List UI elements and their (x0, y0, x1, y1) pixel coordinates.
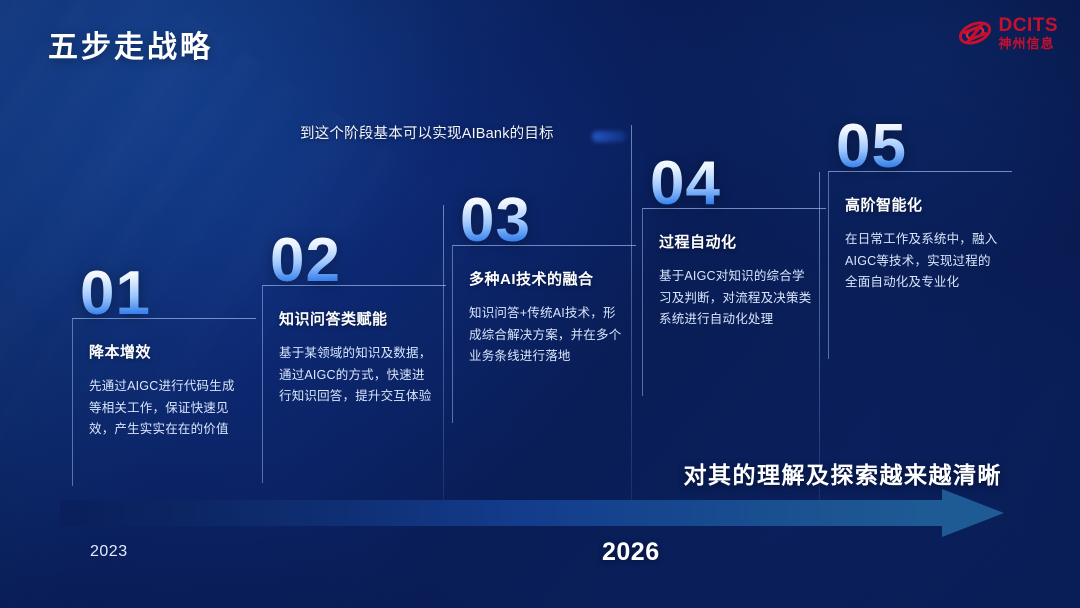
annotation-blur-artifact (592, 131, 626, 142)
step-heading-05: 高阶智能化 (845, 194, 998, 215)
step-card-03[interactable]: 03 多种AI技术的融合 知识问答+传统AI技术，形成综合解决方案，并在多个业务… (452, 192, 636, 423)
step-card-01[interactable]: 01 降本增效 先通过AIGC进行代码生成等相关工作，保证快速见效，产生实实在在… (72, 265, 256, 486)
timeline-year-end: 2026 (602, 538, 660, 567)
step-number-01: 01 (80, 265, 256, 322)
step-heading-03: 多种AI技术的融合 (469, 268, 622, 289)
step-card-body: 过程自动化 基于AIGC对知识的综合学习及判断，对流程及决策类系统进行自动化处理 (642, 208, 826, 396)
step-card-body: 降本增效 先通过AIGC进行代码生成等相关工作，保证快速见效，产生实实在在的价值 (72, 318, 256, 486)
step-description-03: 知识问答+传统AI技术，形成综合解决方案，并在多个业务条线进行落地 (469, 303, 622, 368)
dcits-swirl-logo-icon (958, 16, 992, 50)
step-card-body: 多种AI技术的融合 知识问答+传统AI技术，形成综合解决方案，并在多个业务条线进… (452, 245, 636, 423)
timeline-tagline: 对其的理解及探索越来越清晰 (684, 456, 1003, 490)
timeline-arrow (60, 500, 1005, 526)
timeline-year-start: 2023 (90, 543, 128, 561)
step-number-05: 05 (836, 118, 1012, 175)
timeline-arrowhead-icon (942, 489, 1004, 537)
step-card-04[interactable]: 04 过程自动化 基于AIGC对知识的综合学习及判断，对流程及决策类系统进行自动… (642, 155, 826, 396)
step-card-02[interactable]: 02 知识问答类赋能 基于某领域的知识及数据，通过AIGC的方式，快速进行知识回… (262, 232, 446, 483)
brand-logo: DCITS 神州信息 (958, 16, 1059, 50)
step-description-01: 先通过AIGC进行代码生成等相关工作，保证快速见效，产生实实在在的价值 (89, 376, 242, 441)
step-number-02: 02 (270, 232, 446, 289)
slide-canvas: 五步走战略 DCITS 神州信息 到这个阶段基本可以实现AIBank的目标 01… (0, 0, 1080, 608)
step-heading-01: 降本增效 (89, 341, 242, 362)
step-number-04: 04 (650, 155, 826, 212)
annotation-aibank-goal: 到这个阶段基本可以实现AIBank的目标 (300, 122, 554, 143)
step-description-04: 基于AIGC对知识的综合学习及判断，对流程及决策类系统进行自动化处理 (659, 266, 812, 331)
step-description-05: 在日常工作及系统中，融入AIGC等技术，实现过程的全面自动化及专业化 (845, 229, 998, 294)
step-heading-02: 知识问答类赋能 (279, 308, 432, 329)
step-card-05[interactable]: 05 高阶智能化 在日常工作及系统中，融入AIGC等技术，实现过程的全面自动化及… (828, 118, 1012, 359)
logo-text-cn: 神州信息 (999, 37, 1059, 50)
logo-text-en: DCITS (999, 16, 1059, 35)
step-description-02: 基于某领域的知识及数据，通过AIGC的方式，快速进行知识回答，提升交互体验 (279, 343, 432, 408)
step-heading-04: 过程自动化 (659, 231, 812, 252)
step-card-body: 知识问答类赋能 基于某领域的知识及数据，通过AIGC的方式，快速进行知识回答，提… (262, 285, 446, 483)
step-card-body: 高阶智能化 在日常工作及系统中，融入AIGC等技术，实现过程的全面自动化及专业化 (828, 171, 1012, 359)
timeline-bar (60, 500, 945, 526)
logo-wordmark: DCITS 神州信息 (999, 16, 1059, 50)
step-number-03: 03 (460, 192, 636, 249)
page-title: 五步走战略 (48, 22, 213, 66)
